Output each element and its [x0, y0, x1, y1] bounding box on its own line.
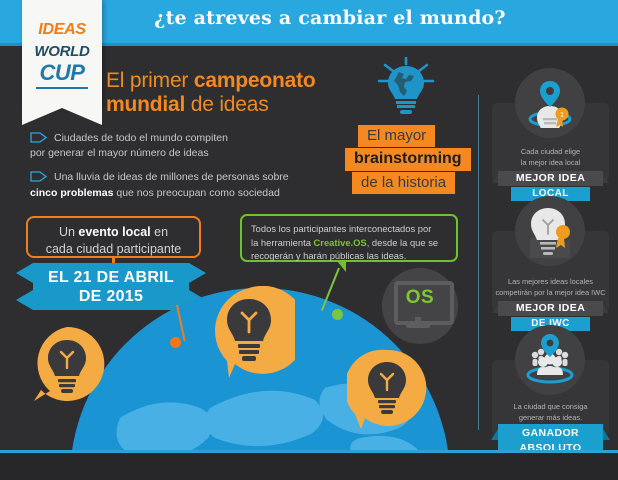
os-label: OS — [382, 287, 458, 309]
card-2-banner-dark-text: MEJOR IDEA — [498, 301, 603, 316]
orange-connector-dot — [170, 337, 181, 348]
card-1-banner-dark: MEJOR IDEA — [498, 171, 603, 186]
card-2-description: Las mejores ideas locales competirán por… — [492, 276, 609, 298]
card-3-desc-line-2: generar más ideas. — [519, 413, 582, 422]
headline-part-3: mundial — [106, 93, 185, 116]
logo-line-ideas: IDEAS — [22, 21, 102, 39]
pin-bulb-medal-icon: 1 — [528, 78, 573, 128]
globe-bulb-icon — [375, 57, 437, 119]
card-1-desc-line-1: Cada ciudad elige — [521, 147, 580, 156]
bulb-world-medal-icon — [526, 204, 574, 258]
event-box-bold: evento local — [78, 225, 150, 239]
bullet-item-1-text: Ciudades de todo el mundo compiten por g… — [30, 131, 340, 161]
event-box-line-2: cada ciudad participante — [46, 242, 182, 256]
logo-underline — [36, 87, 88, 89]
brainstorm-line-1: El mayor — [358, 125, 435, 147]
bullet-list: Ciudades de todo el mundo compiten por g… — [30, 131, 340, 210]
bullet-item-1: Ciudades de todo el mundo compiten por g… — [30, 131, 340, 161]
green-box-line-3: recogerán y harán públicas las ideas. — [251, 250, 406, 261]
tagline: ¿te atreves a cambiar el mundo? — [120, 7, 540, 29]
idea-bubble-left — [28, 325, 106, 403]
card-2-desc-line-1: Las mejores ideas locales — [508, 277, 593, 286]
chevron-right-icon — [30, 171, 47, 182]
date-banner-wing-left-top — [16, 263, 33, 283]
bullet-item-1-line-1: Ciudades de todo el mundo compiten — [30, 131, 228, 146]
green-connector-dot — [332, 309, 343, 320]
card-1-description: Cada ciudad elige la mejor idea local — [492, 146, 609, 168]
card-2-banner-dark: MEJOR IDEA — [498, 301, 603, 316]
brainstorm-line-3: de la historia — [352, 172, 455, 194]
footer: @IdeasWorldCup www.ideasworldcup.com act… — [0, 453, 618, 480]
logo-line-cup: CUP — [22, 60, 102, 86]
green-box-line-1: Todos los participantes interconectados … — [251, 223, 431, 234]
monitor-foot — [406, 323, 430, 328]
bullet-item-1-line-2: por generar el mayor número de ideas — [30, 147, 209, 159]
idea-bubble-right — [347, 348, 427, 430]
card-1-banner-dark-text: MEJOR IDEA — [498, 171, 603, 186]
card-2-desc-line-2: competirán por la mejor idea IWC — [495, 288, 605, 297]
card-3-description: La ciudad que consiga generar más ideas. — [492, 401, 609, 423]
card-3-desc-line-1: La ciudad que consiga — [514, 402, 588, 411]
chevron-right-icon — [30, 132, 47, 143]
bullet-item-2-text: Una lluvia de ideas de millones de perso… — [30, 170, 340, 200]
event-box-suffix: en — [151, 225, 168, 239]
headline-part-1: El primer — [106, 69, 194, 92]
crowd-pin-bulbs-icon — [524, 333, 576, 385]
card-3-banner-line-1: GANADOR — [498, 426, 603, 441]
date-banner-wing-left-bottom — [16, 290, 33, 310]
svg-text:1: 1 — [560, 112, 564, 119]
headline-part-2: campeonato — [194, 69, 316, 92]
green-box-tail — [337, 261, 346, 272]
creative-os-label: Creative.OS — [314, 237, 367, 248]
vertical-divider — [478, 95, 479, 430]
logo-line-world: WORLD — [22, 43, 102, 60]
brainstorm-line-2: brainstorming — [345, 148, 471, 171]
page-title: El primer campeonato mundial de ideas — [106, 69, 316, 118]
card-1-desc-line-2: la mejor idea local — [521, 158, 581, 167]
bullet-item-2-line-1: Una lluvia de ideas de millones de perso… — [30, 170, 289, 185]
logo-ribbon: IDEAS WORLD CUP — [22, 0, 102, 108]
infographic-canvas: ¿te atreves a cambiar el mundo? IDEAS WO… — [0, 0, 618, 480]
green-box-line-2b: , desde la que se — [367, 237, 438, 248]
event-box-prefix: Un — [59, 225, 78, 239]
bullet-item-2: Una lluvia de ideas de millones de perso… — [30, 170, 340, 200]
event-local-box: Un evento local en cada ciudad participa… — [26, 216, 201, 258]
creative-os-callout: Todos los participantes interconectados … — [240, 214, 458, 262]
idea-bubble-center — [203, 286, 295, 380]
os-monitor-icon: OS — [382, 268, 458, 344]
green-box-line-2a: la herramienta — [251, 237, 314, 248]
bullet-item-2-bold: cinco problemas — [30, 187, 113, 199]
headline-part-4: de ideas — [185, 93, 268, 116]
bullet-item-2-line-2: que nos preocupan como sociedad — [113, 187, 279, 199]
